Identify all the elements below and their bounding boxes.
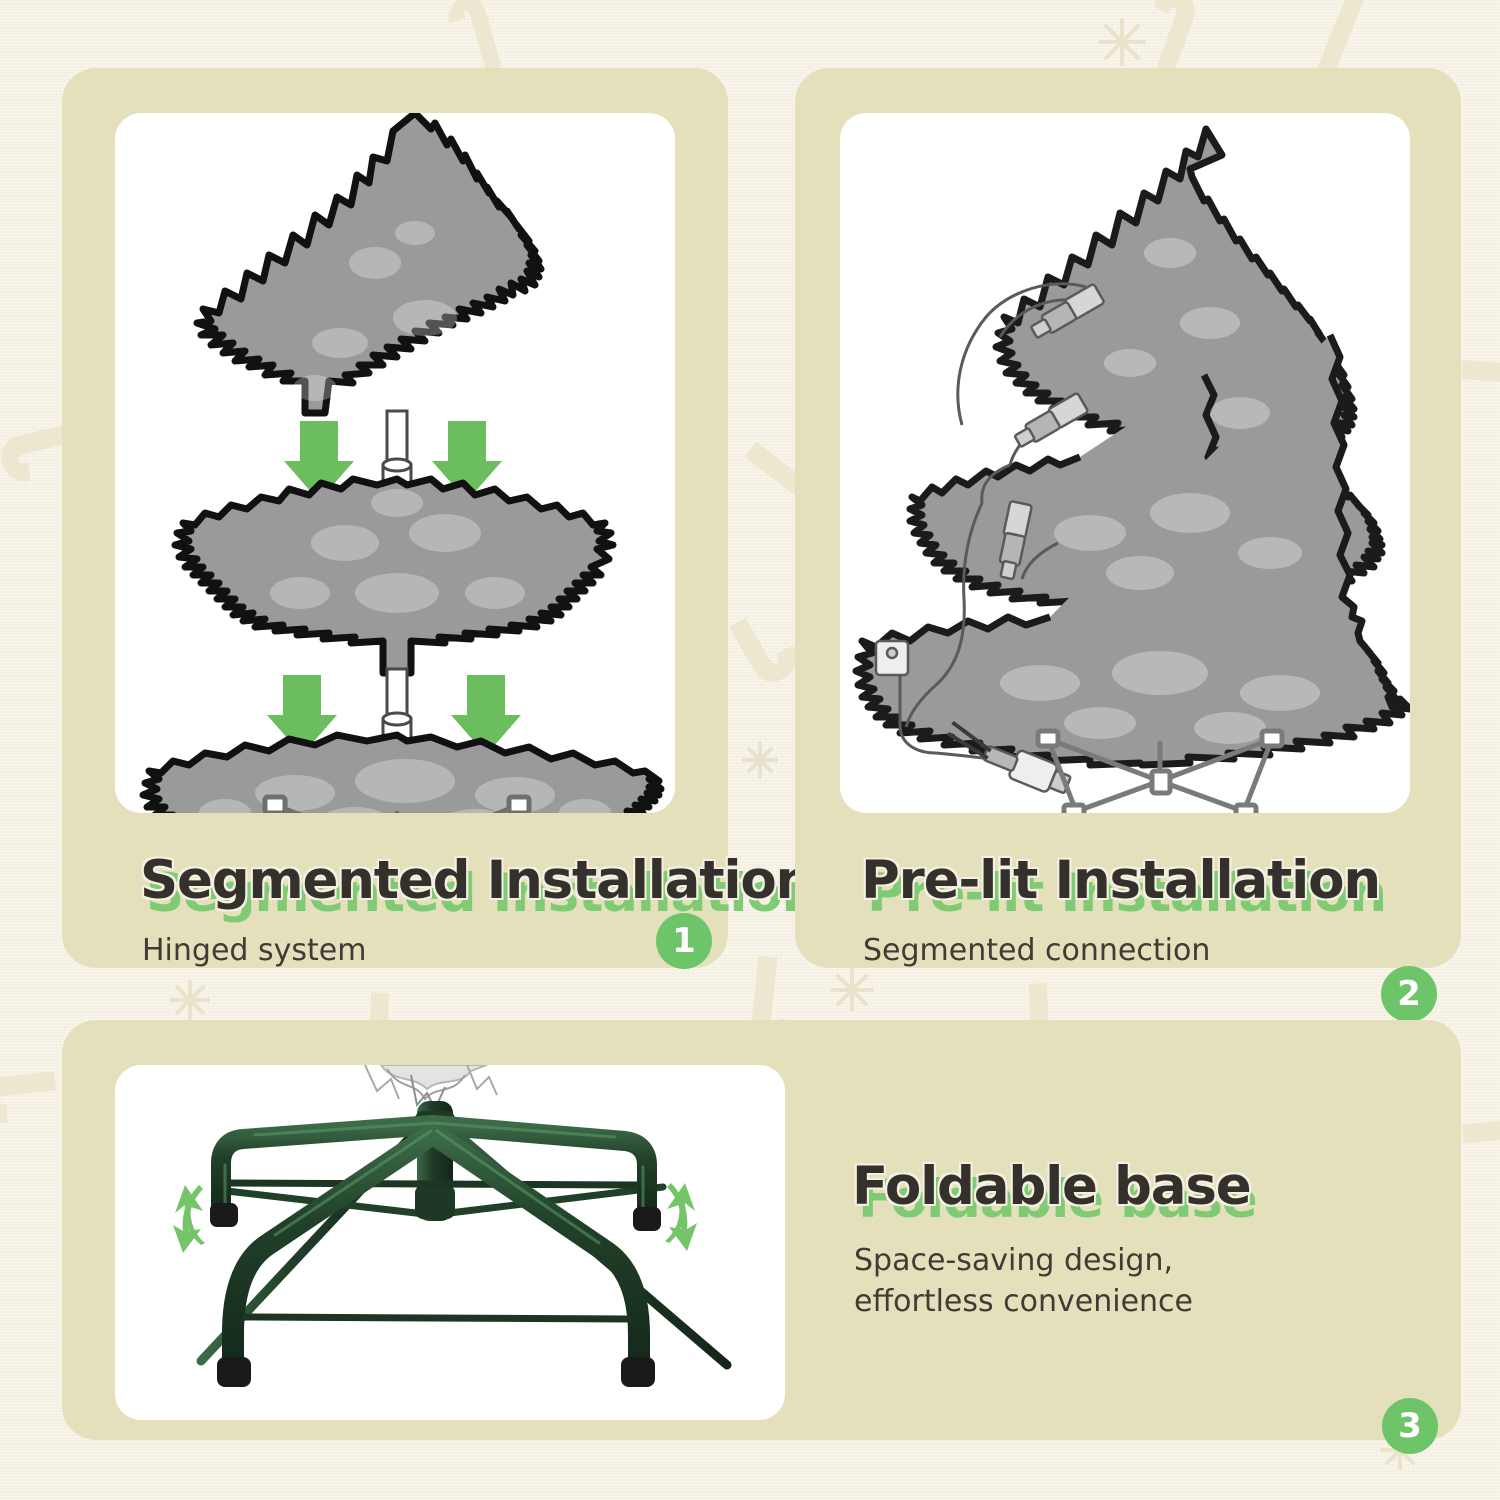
- panel-3-photo-frame: [115, 1065, 785, 1420]
- pre-lit-tree-illustration: [840, 113, 1410, 813]
- panel-3-title: Foldable base: [852, 1156, 1250, 1217]
- panel-pre-lit-installation: Pre-lit Installation Segmented connectio…: [795, 68, 1461, 968]
- foldable-base-photo: [115, 1065, 785, 1420]
- panel-2-step-badge: 2: [1381, 966, 1437, 1022]
- panel-3-step-badge: 3: [1382, 1398, 1438, 1454]
- panel-1-title: Segmented Installation: [140, 850, 812, 911]
- panel-1-subtitle: Hinged system: [142, 930, 366, 971]
- panel-2-illustration-frame: [840, 113, 1410, 813]
- infographic-page: Segmented Installation Hinged system 1: [0, 0, 1500, 1500]
- panel-3-subtitle: Space-saving design, effortless convenie…: [854, 1240, 1193, 1322]
- panel-segmented-installation: Segmented Installation Hinged system 1: [62, 68, 728, 968]
- panel-foldable-base: Foldable base Space-saving design, effor…: [62, 1020, 1461, 1440]
- panel-1-step-badge: 1: [656, 913, 712, 969]
- panel-2-subtitle: Segmented connection: [863, 930, 1210, 971]
- panel-2-title: Pre-lit Installation: [861, 850, 1380, 911]
- panel-1-illustration-frame: [115, 113, 675, 813]
- exploded-tree-illustration: [115, 113, 675, 813]
